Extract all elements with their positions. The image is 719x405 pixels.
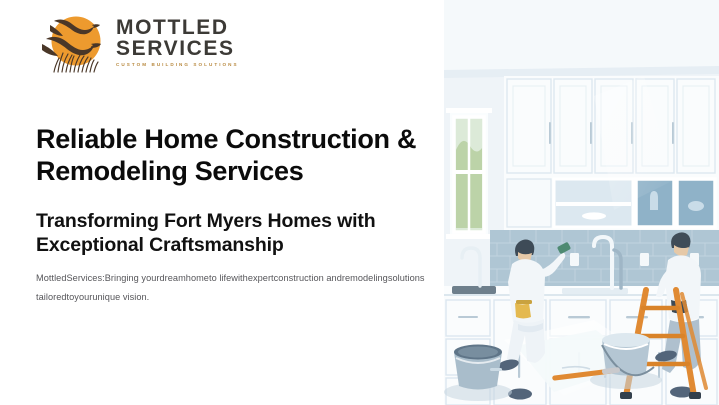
page-subtitle: Transforming Fort Myers Homes with Excep… bbox=[36, 209, 440, 257]
brand-name-line2: SERVICES bbox=[116, 38, 239, 59]
brand-tagline: CUSTOM BUILDING SOLUTIONS bbox=[116, 62, 239, 68]
slide-canvas: MOTTLED SERVICES CUSTOM BUILDING SOLUTIO… bbox=[0, 0, 719, 405]
body-paragraph: MottledServices:Bringing yourdreamhometo… bbox=[36, 269, 428, 307]
flying-ducks-sunset-icon bbox=[36, 9, 110, 75]
brand-name-line1: MOTTLED bbox=[116, 17, 239, 38]
kitchen-remodel-photo bbox=[444, 0, 719, 405]
brand-wordmark: MOTTLED SERVICES CUSTOM BUILDING SOLUTIO… bbox=[116, 17, 239, 68]
content-column: MOTTLED SERVICES CUSTOM BUILDING SOLUTIO… bbox=[36, 0, 436, 405]
page-title: Reliable Home Construction & Remodeling … bbox=[36, 124, 438, 187]
brand-logo: MOTTLED SERVICES CUSTOM BUILDING SOLUTIO… bbox=[36, 8, 239, 76]
